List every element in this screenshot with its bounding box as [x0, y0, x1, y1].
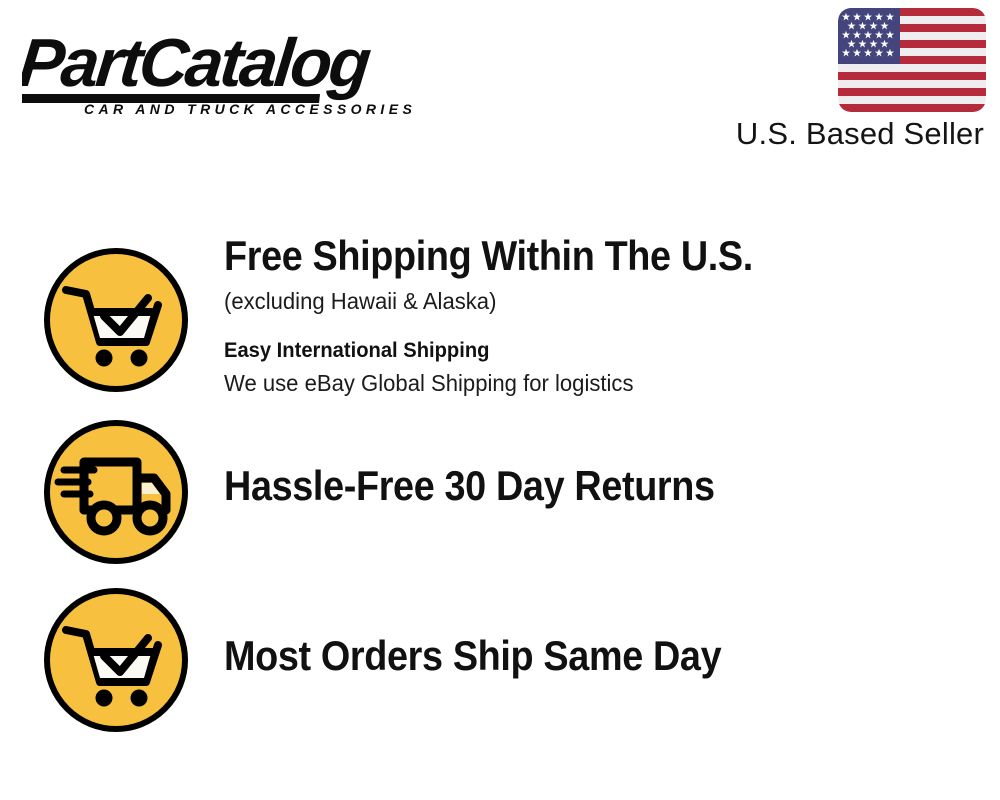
feature-headline: Free Shipping Within The U.S.: [224, 232, 922, 280]
us-based-seller-label: U.S. Based Seller: [716, 116, 986, 152]
brand-logo[interactable]: PartCatalog CAR AND TRUCK ACCESSORIES Pa…: [22, 18, 492, 118]
feature-text-block: Free Shipping Within The U.S. (excluding…: [190, 224, 1000, 398]
cart-check-icon: [42, 246, 190, 394]
feature-subnote: (excluding Hawaii & Alaska): [224, 286, 969, 316]
feature-row: Most Orders Ship Same Day: [0, 584, 1000, 754]
cart-check-icon: [42, 586, 190, 734]
brand-logo-artwork: PartCatalog CAR AND TRUCK ACCESSORIES: [22, 18, 492, 118]
international-shipping-note: We use eBay Global Shipping for logistic…: [224, 368, 969, 398]
feature-text-block: Most Orders Ship Same Day: [190, 584, 1000, 680]
svg-text:CAR AND TRUCK ACCESSORIES: CAR AND TRUCK ACCESSORIES: [84, 101, 416, 117]
svg-text:PartCatalog: PartCatalog: [22, 25, 374, 101]
page-header: PartCatalog CAR AND TRUCK ACCESSORIES Pa…: [0, 0, 1000, 180]
feature-headline: Most Orders Ship Same Day: [224, 632, 922, 680]
international-shipping-title: Easy International Shipping: [224, 336, 969, 366]
feature-headline: Hassle-Free 30 Day Returns: [224, 462, 922, 510]
feature-row: Hassle-Free 30 Day Returns: [0, 414, 1000, 584]
us-flag-icon: [838, 8, 986, 112]
delivery-truck-icon: [42, 418, 190, 566]
feature-row: Free Shipping Within The U.S. (excluding…: [0, 224, 1000, 414]
feature-text-block: Hassle-Free 30 Day Returns: [190, 414, 1000, 510]
us-based-seller-badge: U.S. Based Seller: [716, 8, 986, 152]
